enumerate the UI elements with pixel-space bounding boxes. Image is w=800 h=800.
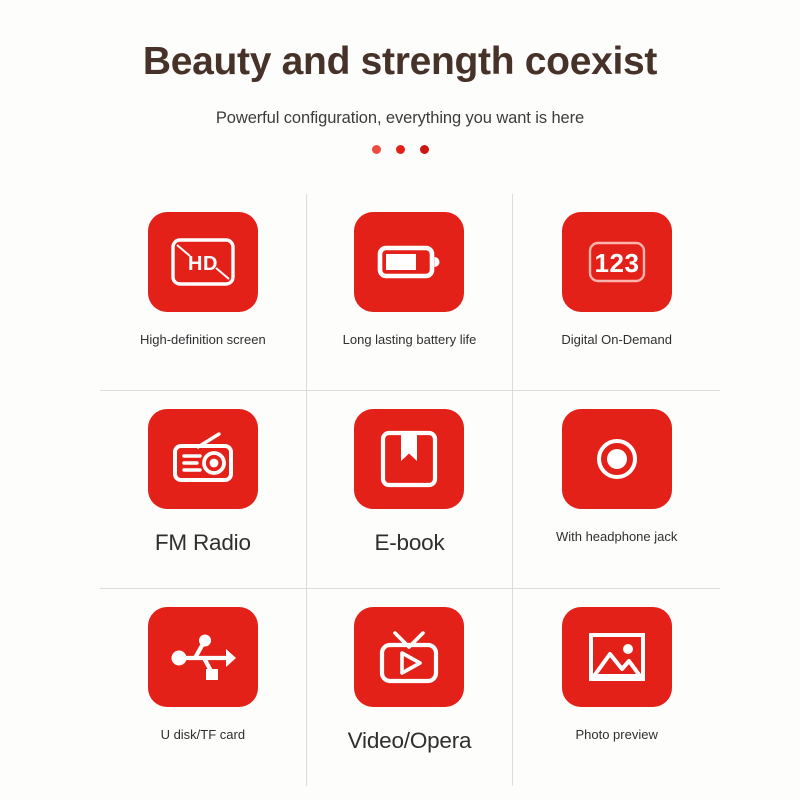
feature-label: With headphone jack [556, 528, 677, 545]
feature-tile [354, 607, 464, 707]
feature-label: High-definition screen [140, 331, 266, 348]
feature-tile: HD [148, 212, 258, 312]
photo-image-icon [585, 628, 649, 686]
feature-cell-digital-on-demand[interactable]: 123 Digital On-Demand [513, 194, 720, 391]
digital-123-icon: 123 [581, 234, 653, 290]
feature-cell-with-headphone-jack[interactable]: With headphone jack [513, 391, 720, 588]
feature-tile [148, 607, 258, 707]
feature-label: Photo preview [575, 726, 657, 743]
feature-label: FM Radio [155, 528, 251, 558]
page-subtitle: Powerful configuration, everything you w… [0, 83, 800, 128]
radio-icon [167, 430, 239, 488]
feature-cell-fm-radio[interactable]: FM Radio [100, 391, 307, 588]
hd-screen-icon: HD [167, 234, 239, 290]
usb-icon [168, 629, 238, 685]
feature-label: U disk/TF card [161, 726, 246, 743]
feature-cell-e-book[interactable]: E-book [307, 391, 514, 588]
book-bookmark-icon [377, 428, 441, 490]
carousel-dots [0, 128, 800, 154]
carousel-dot-1[interactable] [372, 145, 381, 154]
svg-text:123: 123 [594, 248, 639, 278]
feature-tile: 123 [562, 212, 672, 312]
svg-text:HD: HD [188, 253, 218, 275]
feature-label: Digital On-Demand [561, 331, 672, 348]
battery-icon [373, 234, 445, 290]
feature-tile [354, 212, 464, 312]
feature-label: Long lasting battery life [343, 331, 477, 348]
page-title: Beauty and strength coexist [0, 42, 800, 83]
feature-tile [562, 409, 672, 509]
feature-tile [148, 409, 258, 509]
feature-cell-high-definition-screen[interactable]: HD High-definition screen [100, 194, 307, 391]
feature-tile [562, 607, 672, 707]
feature-cell-u-disk-tf-card[interactable]: U disk/TF card [100, 589, 307, 786]
carousel-dot-2[interactable] [396, 145, 405, 154]
feature-label: E-book [374, 528, 444, 558]
headphone-jack-icon [589, 431, 645, 487]
feature-grid: HD High-definition screen Long lasting b… [100, 194, 720, 786]
feature-cell-video-opera[interactable]: Video/Opera [307, 589, 514, 786]
page-header: Beauty and strength coexist Powerful con… [0, 0, 800, 154]
feature-tile [354, 409, 464, 509]
feature-label: Video/Opera [348, 726, 472, 756]
carousel-dot-3[interactable] [420, 145, 429, 154]
feature-cell-photo-preview[interactable]: Photo preview [513, 589, 720, 786]
feature-cell-long-lasting-battery-life[interactable]: Long lasting battery life [307, 194, 514, 391]
tv-play-icon [373, 628, 445, 686]
